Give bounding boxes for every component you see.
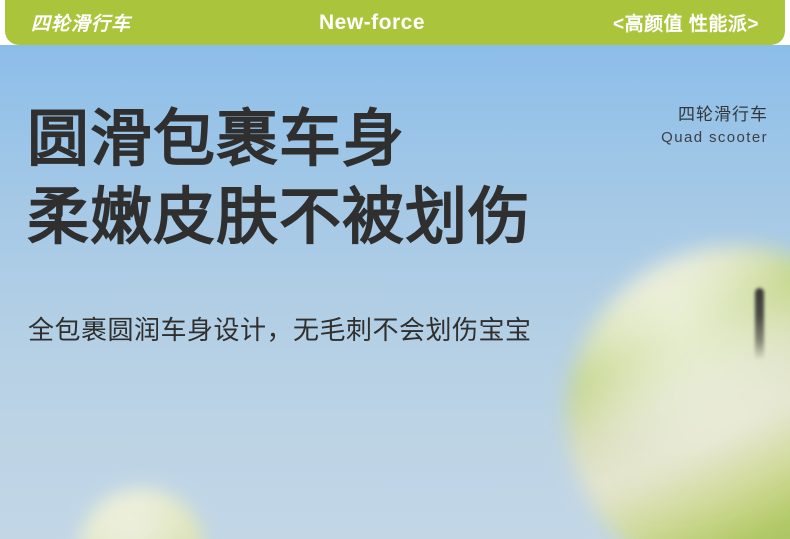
topbar-brand-label: New-force <box>131 11 613 35</box>
topbar-right-label: <高颜值 性能派> <box>613 9 759 36</box>
headline-line-1: 圆滑包裹车身 <box>27 101 531 179</box>
side-label-chinese: 四轮滑行车 <box>661 103 768 127</box>
topbar-left-label: 四轮滑行车 <box>31 9 131 36</box>
headline-line-2: 柔嫩皮肤不被划伤 <box>27 179 531 257</box>
side-label-block: 四轮滑行车 Quad scooter <box>661 103 768 149</box>
subtitle-text: 全包裹圆润车身设计，无毛刺不会划伤宝宝 <box>28 310 532 347</box>
headline-block: 圆滑包裹车身 柔嫩皮肤不被划伤 <box>27 101 531 257</box>
product-banner: 四轮滑行车 New-force <高颜值 性能派> 圆滑包裹车身 柔嫩皮肤不被划… <box>0 0 790 539</box>
product-post-icon <box>755 288 764 360</box>
side-label-english: Quad scooter <box>661 127 768 149</box>
top-green-bar: 四轮滑行车 New-force <高颜值 性能派> <box>5 0 785 45</box>
